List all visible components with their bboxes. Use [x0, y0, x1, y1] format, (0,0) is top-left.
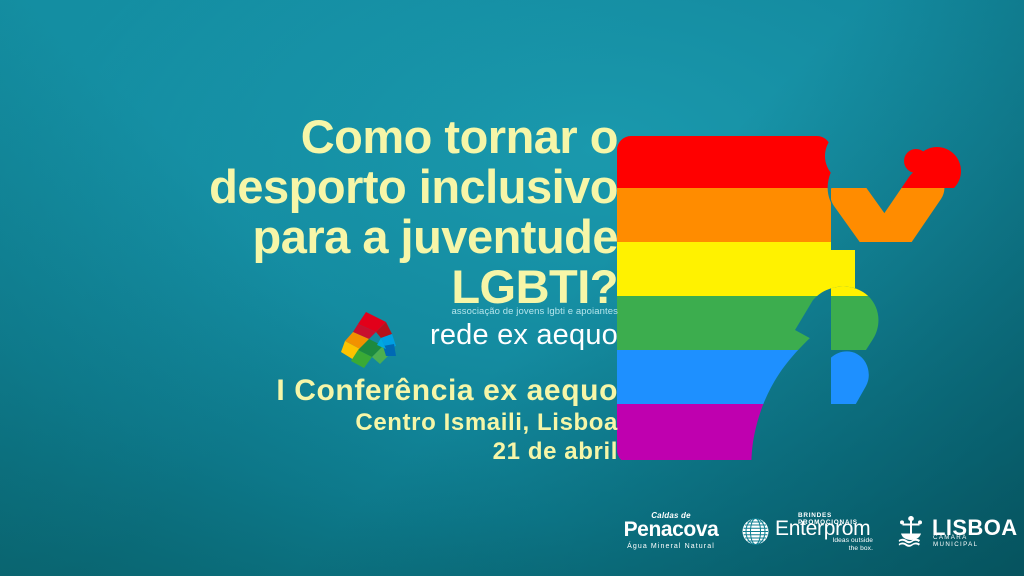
- penacova-name: Penacova: [617, 518, 725, 541]
- sponsor-bar: Caldas de Penacova Água Mineral Natural: [630, 506, 1010, 556]
- rede-ex-aequo-pinwheel-icon: [336, 308, 400, 372]
- logo-tagline: associação de jovens lgbti e apoiantes: [406, 306, 618, 318]
- event-date: 21 de abril: [40, 437, 618, 466]
- headline-text: Como tornar o desporto inclusivo para a …: [40, 112, 618, 312]
- penacova-logo: Caldas de Penacova Água Mineral Natural: [617, 511, 725, 551]
- logo-name: rede ex aequo: [406, 319, 618, 351]
- event-details: I Conferência ex aequo Centro Ismaili, L…: [40, 374, 618, 466]
- enterprom-logo: BRINDES PROMOCIONAIS Enterprom Ideas out…: [742, 511, 879, 551]
- rede-ex-aequo-logo: associação de jovens lgbti e apoiantes r…: [336, 306, 618, 374]
- lisboa-subtitle: CÂMARA MUNICIPAL: [933, 534, 1010, 548]
- rainbow-stripes: [615, 134, 859, 460]
- event-title: I Conferência ex aequo: [40, 374, 618, 408]
- enterprom-slogan: Ideas outside the box.: [832, 537, 873, 552]
- poster-canvas: Como tornar o desporto inclusivo para a …: [0, 0, 1024, 576]
- lisboa-ship-crest-icon: [896, 515, 926, 547]
- globe-icon: [742, 518, 769, 545]
- rainbow-flag-with-climber: [617, 128, 957, 460]
- event-venue: Centro Ismaili, Lisboa: [40, 408, 618, 437]
- rede-ex-aequo-wordmark: associação de jovens lgbti e apoiantes r…: [406, 306, 618, 351]
- lisboa-logo: LISBOA CÂMARA MUNICIPAL: [896, 513, 1010, 549]
- penacova-subtitle: Água Mineral Natural: [617, 543, 725, 551]
